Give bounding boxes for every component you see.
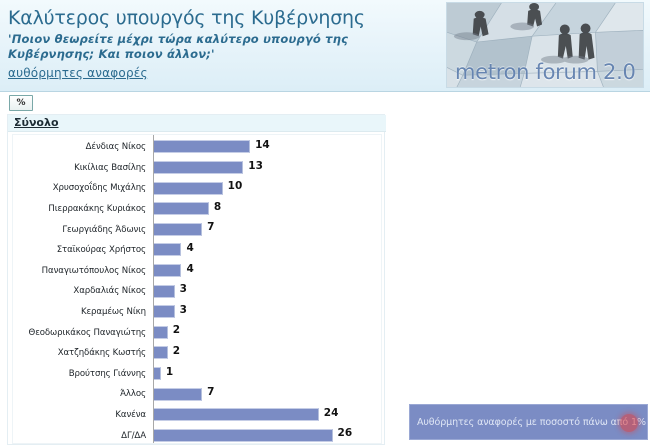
footnote-tooltip-text: Αυθόρμητες αναφορές με ποσοστό πάνω από … xyxy=(410,417,646,428)
bar-category-label: Άλλος xyxy=(13,389,150,399)
chart-toolbar: % xyxy=(0,93,650,115)
bar[interactable] xyxy=(154,182,223,195)
bar-category-label: Χαρδαλιάς Νίκος xyxy=(13,286,150,296)
bar-row[interactable]: Κεραμέως Νίκη3 xyxy=(13,302,383,323)
bar-track: 24 xyxy=(154,405,383,426)
bar-value-label: 10 xyxy=(228,180,243,192)
bar-category-label: Κικίλιας Βασίλης xyxy=(13,163,150,173)
bar[interactable] xyxy=(154,202,209,215)
metron-forum-logo: metron forum 2.0 xyxy=(446,2,644,88)
bar-category-label: Παναγιωτόπουλος Νίκος xyxy=(13,266,150,276)
bar-value-label: 26 xyxy=(338,427,353,439)
bar-value-label: 3 xyxy=(180,304,187,316)
bar-rows-container: Δένδιας Νίκος14Κικίλιας Βασίλης13Χρυσοχο… xyxy=(13,137,383,445)
bar-value-label: 8 xyxy=(214,201,221,213)
bar-category-label: Θεοδωρικάκος Παναγιώτης xyxy=(13,328,150,338)
bar-row[interactable]: Παναγιωτόπουλος Νίκος4 xyxy=(13,261,383,282)
bar-track: 2 xyxy=(154,343,383,364)
bar-category-label: Κανένα xyxy=(13,410,150,420)
bar-track: 1 xyxy=(154,364,383,385)
cursor-highlight-icon xyxy=(620,414,638,432)
section-label-total: Σύνολο xyxy=(14,116,59,129)
bar-category-label: Σταϊκούρας Χρήστος xyxy=(13,245,150,255)
bar-track: 8 xyxy=(154,199,383,220)
bar-row[interactable]: Θεοδωρικάκος Παναγιώτης2 xyxy=(13,322,383,343)
bar-track: 10 xyxy=(154,178,383,199)
bar-row[interactable]: Σταϊκούρας Χρήστος4 xyxy=(13,240,383,261)
bar-category-label: ΔΓ/ΔΑ xyxy=(13,431,150,441)
bar-row[interactable]: Δένδιας Νίκος14 xyxy=(13,137,383,158)
bar-row[interactable]: Χρυσοχοΐδης Μιχάλης10 xyxy=(13,178,383,199)
bar-track: 3 xyxy=(154,281,383,302)
bar[interactable] xyxy=(154,388,202,401)
bar-value-label: 2 xyxy=(173,324,180,336)
bar-value-label: 4 xyxy=(186,263,193,275)
bar-chart-plot: Δένδιας Νίκος14Κικίλιας Βασίλης13Χρυσοχο… xyxy=(12,134,382,444)
bar-row[interactable]: Χαρδαλιάς Νίκος3 xyxy=(13,281,383,302)
bar-track: 7 xyxy=(154,384,383,405)
bar-track: 2 xyxy=(154,322,383,343)
bar-track: 26 xyxy=(154,425,383,445)
bar-value-label: 3 xyxy=(180,283,187,295)
bar-category-label: Πιερρακάκης Κυριάκος xyxy=(13,204,150,214)
bar-value-label: 24 xyxy=(324,407,339,419)
bar-track: 13 xyxy=(154,158,383,179)
bar-category-label: Χατζηδάκης Κωστής xyxy=(13,348,150,358)
bar-value-label: 4 xyxy=(186,242,193,254)
bar-category-label: Γεωργιάδης Άδωνις xyxy=(13,225,150,235)
bar[interactable] xyxy=(154,161,243,174)
bar-category-label: Κεραμέως Νίκη xyxy=(13,307,150,317)
bar-track: 4 xyxy=(154,240,383,261)
bar-track: 4 xyxy=(154,261,383,282)
bar-row[interactable]: Κανένα24 xyxy=(13,405,383,426)
header-text-block: Καλύτερος υπουργός της Κυβέρνησης 'Ποιον… xyxy=(8,6,438,81)
bar[interactable] xyxy=(154,285,175,298)
page-header: Καλύτερος υπουργός της Κυβέρνησης 'Ποιον… xyxy=(0,0,650,92)
bar-track: 3 xyxy=(154,302,383,323)
bar-row[interactable]: Χατζηδάκης Κωστής2 xyxy=(13,343,383,364)
footnote-tooltip: Αυθόρμητες αναφορές με ποσοστό πάνω από … xyxy=(409,404,648,440)
percent-toggle-button[interactable]: % xyxy=(9,95,33,111)
bar-category-label: Δένδιας Νίκος xyxy=(13,142,150,152)
bar-row[interactable]: Βρούτσης Γιάννης1 xyxy=(13,364,383,385)
bar-category-label: Χρυσοχοΐδης Μιχάλης xyxy=(13,183,150,193)
bar-value-label: 13 xyxy=(248,160,263,172)
bar[interactable] xyxy=(154,326,168,339)
bar-value-label: 1 xyxy=(166,366,173,378)
bar-value-label: 7 xyxy=(207,386,214,398)
spontaneous-mentions-link[interactable]: αυθόρμητες αναφορές xyxy=(8,66,148,81)
chart-panel-header: Σύνολο xyxy=(8,115,386,132)
bar[interactable] xyxy=(154,140,250,153)
bar-row[interactable]: Άλλος7 xyxy=(13,384,383,405)
bar[interactable] xyxy=(154,264,181,277)
bar-value-label: 14 xyxy=(255,139,270,151)
bar-category-label: Βρούτσης Γιάννης xyxy=(13,369,150,379)
bar[interactable] xyxy=(154,429,333,442)
bar-row[interactable]: Κικίλιας Βασίλης13 xyxy=(13,158,383,179)
bar[interactable] xyxy=(154,243,181,256)
page-root: Καλύτερος υπουργός της Κυβέρνησης 'Ποιον… xyxy=(0,0,650,445)
bar[interactable] xyxy=(154,346,168,359)
logo-wordmark: metron forum 2.0 xyxy=(455,60,639,84)
chart-panel: Σύνολο Δένδιας Νίκος14Κικίλιας Βασίλης13… xyxy=(7,114,385,445)
bar-row[interactable]: Πιερρακάκης Κυριάκος8 xyxy=(13,199,383,220)
bar-row[interactable]: Γεωργιάδης Άδωνις7 xyxy=(13,219,383,240)
bar-value-label: 2 xyxy=(173,345,180,357)
bar[interactable] xyxy=(154,223,202,236)
bar[interactable] xyxy=(154,367,161,380)
bar-value-label: 7 xyxy=(207,221,214,233)
page-subtitle: 'Ποιον θεωρείτε μέχρι τώρα καλύτερο υπου… xyxy=(8,32,438,62)
page-title: Καλύτερος υπουργός της Κυβέρνησης xyxy=(8,6,438,30)
bar-track: 7 xyxy=(154,219,383,240)
bar-row[interactable]: ΔΓ/ΔΑ26 xyxy=(13,425,383,445)
bar[interactable] xyxy=(154,408,319,421)
bar-track: 14 xyxy=(154,137,383,158)
bar[interactable] xyxy=(154,305,175,318)
